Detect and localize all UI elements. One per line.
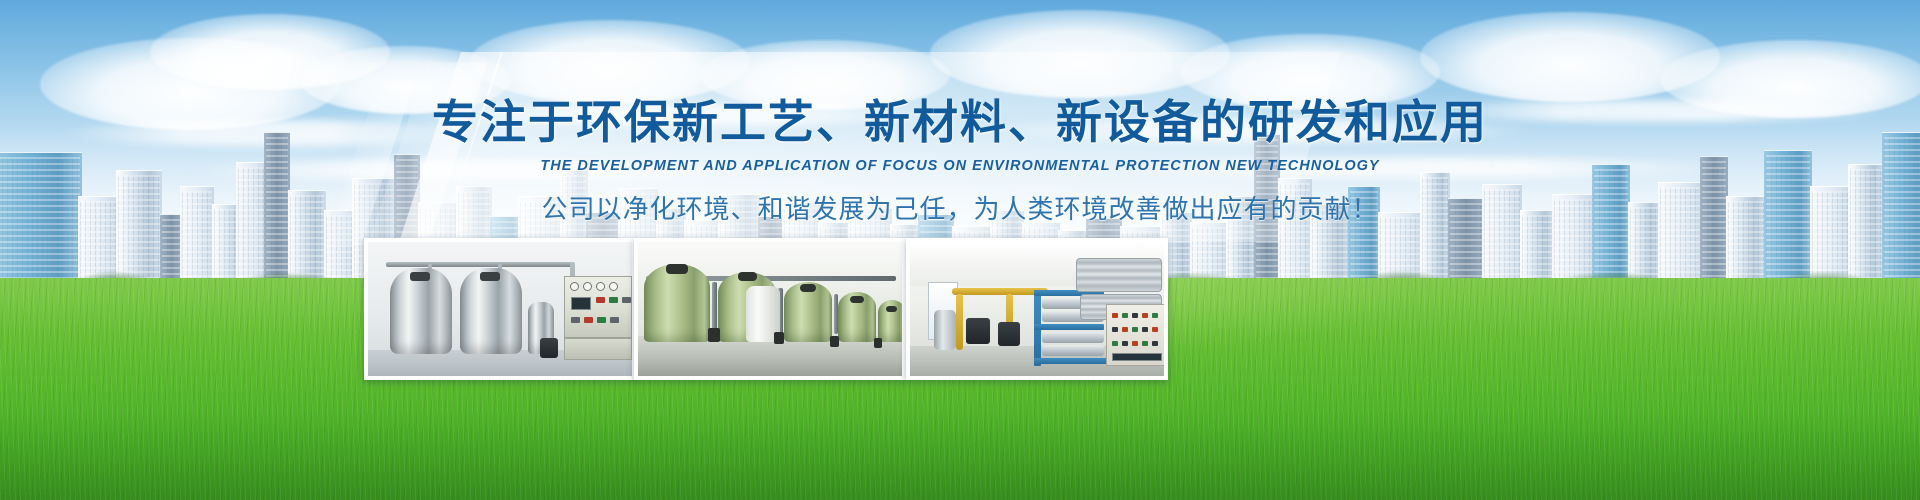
banner-tagline: 公司以净化环境、和谐发展为己任，为人类环境改善做出应有的贡献！	[0, 189, 1920, 226]
hero-banner: 专注于环保新工艺、新材料、新设备的研发和应用 THE DEVELOPMENT A…	[0, 0, 1920, 500]
photo-thumbnail-row	[0, 238, 1920, 388]
grass-shadow	[0, 410, 1920, 500]
banner-headline: 专注于环保新工艺、新材料、新设备的研发和应用	[0, 96, 1920, 149]
photo-reverse-osmosis-membrane-skid-room[interactable]	[906, 238, 1168, 380]
banner-text-block: 专注于环保新工艺、新材料、新设备的研发和应用 THE DEVELOPMENT A…	[0, 96, 1920, 226]
photo-stainless-steel-water-treatment-tanks[interactable]	[364, 238, 636, 380]
banner-subheadline-english: THE DEVELOPMENT AND APPLICATION OF FOCUS…	[0, 158, 1920, 174]
photo-green-frp-filter-vessel-row[interactable]	[634, 238, 906, 380]
